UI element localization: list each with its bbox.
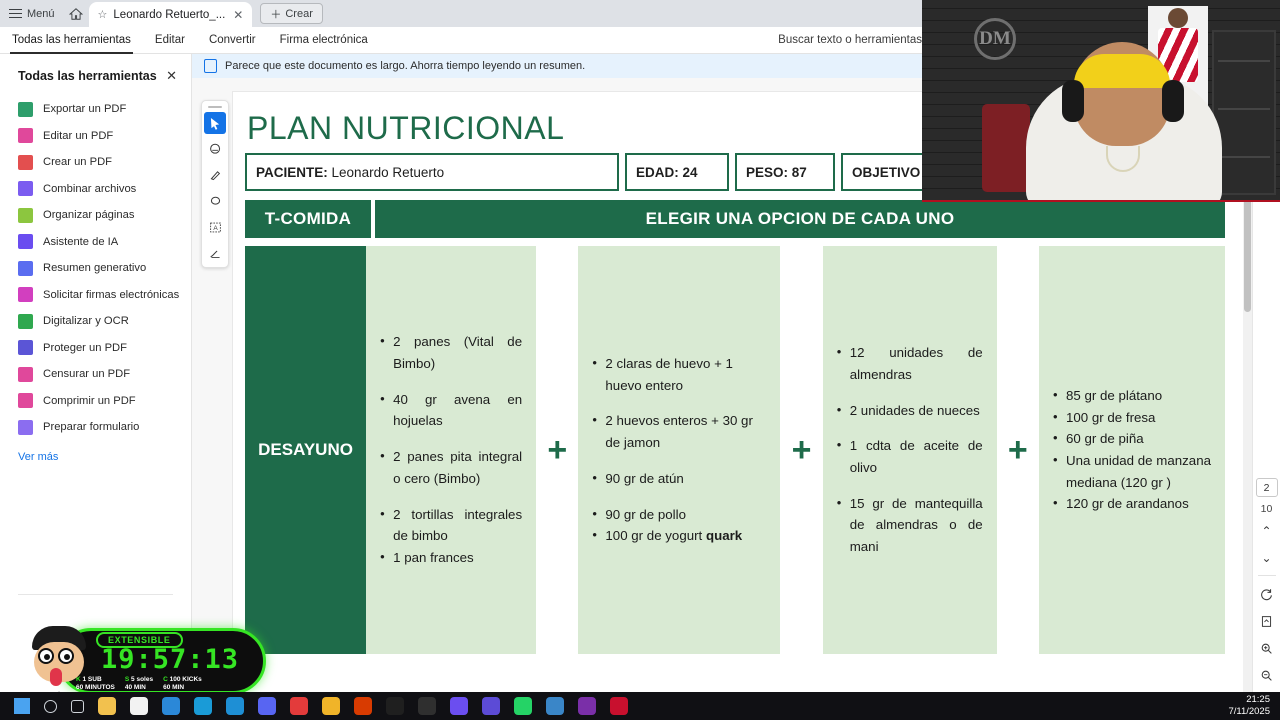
food-item: 2 claras de huevo + 1 huevo entero (592, 353, 766, 396)
tab-firma-electronica[interactable]: Firma electrónica (268, 27, 380, 54)
request-signatures-icon (18, 287, 33, 302)
meal-grid: DESAYUNO 2 panes (Vital de Bimbo)40 gr a… (245, 246, 1225, 654)
clock-time: 21:25 (1228, 694, 1270, 706)
onenote-icon[interactable] (578, 697, 596, 715)
protect-pdf-icon (18, 340, 33, 355)
sidebar-item-label: Organizar páginas (43, 209, 134, 221)
food-item: 1 pan frances (380, 547, 522, 569)
close-icon[interactable]: ✕ (166, 68, 177, 84)
weight-value: PESO: 87 (746, 165, 807, 180)
sidebar-item-list: Exportar un PDFEditar un PDFCrear un PDF… (0, 94, 191, 441)
tab-convertir[interactable]: Convertir (197, 27, 268, 54)
sidebar-item-2[interactable]: Crear un PDF (0, 149, 191, 176)
tab-title: Leonardo Retuerto_... (113, 9, 225, 21)
chair (982, 104, 1030, 192)
plus-icon: ＋ (270, 6, 281, 22)
compress-pdf-icon (18, 393, 33, 408)
sidebar-item-10[interactable]: Censurar un PDF (0, 361, 191, 388)
draw-tool-icon[interactable] (204, 190, 226, 212)
food-item: 2 huevos enteros + 30 gr de jamon (592, 410, 766, 453)
dm-logo-icon: DM (974, 18, 1016, 60)
sidebar-item-4[interactable]: Organizar páginas (0, 202, 191, 229)
food-item: 90 gr de pollo (592, 504, 766, 526)
hamburger-icon (9, 6, 22, 21)
sidebar-item-label: Editar un PDF (43, 130, 113, 142)
sidebar-item-label: Exportar un PDF (43, 103, 126, 115)
meal-label-desayuno: DESAYUNO (245, 246, 366, 654)
food-column-frutas: 85 gr de plátano100 gr de fresa60 gr de … (1039, 246, 1225, 654)
logitech-icon[interactable] (418, 697, 436, 715)
sidebar-item-label: Solicitar firmas electrónicas (43, 289, 179, 301)
star-icon: ☆ (98, 8, 108, 21)
chrome-icon[interactable] (130, 697, 148, 715)
svg-text:A: A (213, 224, 218, 231)
sidebar-item-label: Censurar un PDF (43, 368, 130, 380)
stream-timer-overlay: EXTENSIBLE 19:57:13 K 1 SUB60 MINUTOSS 5… (18, 624, 266, 698)
ai-assistant-icon (18, 234, 33, 249)
food-item: 120 gr de arandanos (1053, 493, 1211, 515)
summary-notice-text: Parece que este documento es largo. Ahor… (225, 60, 585, 72)
zoom-in-icon[interactable] (1256, 637, 1278, 659)
sidebar-item-label: Digitalizar y OCR (43, 315, 129, 327)
organize-pages-icon (18, 208, 33, 223)
whatsapp-icon[interactable] (450, 697, 468, 715)
create-pdf-icon (18, 155, 33, 170)
column-header-instruction: ELEGIR UNA OPCION DE CADA UNO (375, 200, 1225, 238)
add-text-tool-icon[interactable]: A (204, 216, 226, 238)
food-item: 15 gr de mantequilla de almendras o de m… (837, 493, 983, 558)
food-column-proteinas: 2 claras de huevo + 1 huevo entero2 huev… (578, 246, 780, 654)
age-field: EDAD: 24 (625, 153, 729, 191)
windows-start-icon[interactable] (14, 698, 30, 714)
redact-pdf-icon (18, 367, 33, 382)
chevron-down-icon[interactable]: ⌄ (1256, 547, 1278, 569)
tools-sidebar: Todas las herramientas ✕ Exportar un PDF… (0, 54, 192, 720)
highlight-tool-icon[interactable] (204, 164, 226, 186)
sidebar-item-8[interactable]: Digitalizar y OCR (0, 308, 191, 335)
sidebar-more-link[interactable]: Ver más (0, 441, 191, 463)
create-button[interactable]: ＋ Crear (260, 3, 323, 24)
timer-perk-2: C 100 KICKs60 MIN (163, 676, 202, 692)
summary-icon (204, 59, 217, 73)
search-icon[interactable] (44, 700, 57, 713)
food-item: 40 gr avena en hojuelas (380, 389, 522, 432)
sidebar-item-label: Asistente de IA (43, 236, 118, 248)
combine-files-icon (18, 181, 33, 196)
headphone-left-icon (1062, 80, 1084, 122)
chevron-up-icon[interactable]: ⌃ (1256, 520, 1278, 542)
food-item: 2 panes (Vital de Bimbo) (380, 331, 522, 374)
browser-menu-label: Menú (27, 8, 55, 20)
food-item: 100 gr de yogurt quark (592, 525, 766, 547)
edge-icon[interactable] (194, 697, 212, 715)
calculator-icon[interactable] (546, 697, 564, 715)
stamp-tool-icon[interactable] (204, 242, 226, 264)
food-column-grasas: 12 unidades de almendras2 unidades de nu… (823, 246, 997, 654)
patient-field: PACIENTE: Leonardo Retuerto (245, 153, 619, 191)
sidebar-item-1[interactable]: Editar un PDF (0, 123, 191, 150)
timer-perk-1: S 5 soles40 MIN (125, 676, 153, 692)
tab-editar[interactable]: Editar (143, 27, 197, 54)
timer-perks: K 1 SUB60 MINUTOSS 5 soles40 MINC 100 KI… (76, 676, 266, 692)
generative-summary-icon (18, 261, 33, 276)
zoom-out-icon[interactable] (1256, 664, 1278, 686)
onedrive-icon[interactable] (226, 697, 244, 715)
sidebar-divider (18, 594, 173, 595)
food-column-carbohidratos: 2 panes (Vital de Bimbo)40 gr avena en h… (366, 246, 536, 654)
plus-separator-3: + (997, 246, 1039, 654)
acrobat-icon[interactable] (610, 697, 628, 715)
headphone-right-icon (1162, 80, 1184, 122)
food-item: 2 unidades de nueces (837, 400, 983, 422)
sidebar-item-label: Preparar formulario (43, 421, 139, 433)
system-clock[interactable]: 21:25 7/11/2025 (1228, 694, 1270, 718)
sidebar-item-label: Crear un PDF (43, 156, 112, 168)
yellow-headband (1074, 54, 1170, 88)
comment-tool-icon[interactable] (204, 138, 226, 160)
food-item: 2 panes pita integral o cero (Bimbo) (380, 446, 522, 489)
food-item: 2 tortillas integrales de bimbo (380, 504, 522, 547)
home-icon[interactable] (63, 0, 89, 27)
browser-menu-button[interactable]: Menú (0, 0, 63, 27)
sidebar-item-12[interactable]: Preparar formulario (0, 414, 191, 441)
food-item: 60 gr de piña (1053, 428, 1211, 450)
sidebar-item-7[interactable]: Solicitar firmas electrónicas (0, 282, 191, 309)
food-item: 1 cdta de aceite de olivo (837, 435, 983, 478)
windows-taskbar: 21:25 7/11/2025 (0, 692, 1280, 720)
files-icon[interactable] (322, 697, 340, 715)
food-item: Una unidad de manzana mediana (120 gr ) (1053, 450, 1211, 493)
office-icon[interactable] (354, 697, 372, 715)
tab-todas-las-herramientas[interactable]: Todas las herramientas (0, 27, 143, 54)
sidebar-item-5[interactable]: Asistente de IA (0, 229, 191, 256)
clock-date: 7/11/2025 (1228, 706, 1270, 718)
weight-field: PESO: 87 (735, 153, 835, 191)
sidebar-header: Todas las herramientas ✕ (0, 54, 191, 94)
plus-separator-1: + (536, 246, 578, 654)
select-tool-icon[interactable] (204, 112, 226, 134)
obs-icon[interactable] (386, 697, 404, 715)
age-value: EDAD: 24 (636, 165, 698, 180)
prepare-form-icon (18, 420, 33, 435)
drag-handle[interactable] (208, 106, 222, 108)
patient-value: Leonardo Retuerto (332, 165, 445, 180)
quick-tools-toolbar: A (201, 100, 229, 268)
current-page-input[interactable]: 2 (1256, 478, 1278, 497)
food-item: 85 gr de plátano (1053, 385, 1211, 407)
food-item: 12 unidades de almendras (837, 342, 983, 385)
sidebar-item-3[interactable]: Combinar archivos (0, 176, 191, 203)
patient-label: PACIENTE: (256, 165, 328, 180)
rotate-icon[interactable] (1256, 583, 1278, 605)
taskbar-icon-list (30, 697, 628, 715)
paint-icon[interactable] (482, 697, 500, 715)
food-item: 100 gr de fresa (1053, 407, 1211, 429)
total-pages-label: 10 (1261, 503, 1273, 515)
scrollbar-thumb[interactable] (1244, 192, 1251, 312)
sidebar-item-label: Comprimir un PDF (43, 395, 136, 407)
sidebar-item-label: Combinar archivos (43, 183, 136, 195)
column-header-tcomida: T-COMIDA (245, 200, 371, 238)
sidebar-item-6[interactable]: Resumen generativo (0, 255, 191, 282)
sidebar-item-9[interactable]: Proteger un PDF (0, 335, 191, 362)
search-input[interactable]: Buscar texto o herramientas (778, 34, 922, 46)
export-pdf-icon (18, 102, 33, 117)
fit-page-icon[interactable] (1256, 610, 1278, 632)
sidebar-item-0[interactable]: Exportar un PDF (0, 96, 191, 123)
scan-ocr-icon (18, 314, 33, 329)
timer-value: 19:57:13 (80, 644, 260, 675)
food-item: 90 gr de atún (592, 468, 766, 490)
sidebar-title: Todas las herramientas (18, 69, 157, 83)
table-header-row: T-COMIDA ELEGIR UNA OPCION DE CADA UNO (245, 200, 1225, 238)
sidebar-item-11[interactable]: Comprimir un PDF (0, 388, 191, 415)
store-icon[interactable] (98, 697, 116, 715)
copilot-icon[interactable] (162, 697, 180, 715)
edit-pdf-icon (18, 128, 33, 143)
browser-tab[interactable]: ☆ Leonardo Retuerto_... ✕ (89, 2, 253, 27)
app-red-icon[interactable] (290, 697, 308, 715)
webcam-overlay: DM (922, 0, 1280, 202)
app-window: Menú ☆ Leonardo Retuerto_... ✕ ＋ Crear T… (0, 0, 1280, 720)
task-view-icon[interactable] (71, 700, 84, 713)
sidebar-item-label: Resumen generativo (43, 262, 146, 274)
mascot-icon: ACTIVADA (18, 624, 104, 698)
sidebar-item-label: Proteger un PDF (43, 342, 127, 354)
plus-separator-2: + (780, 246, 822, 654)
create-label: Crear (285, 8, 313, 20)
messenger-icon[interactable] (514, 697, 532, 715)
close-icon[interactable]: ✕ (231, 8, 245, 22)
discord-icon[interactable] (258, 697, 276, 715)
